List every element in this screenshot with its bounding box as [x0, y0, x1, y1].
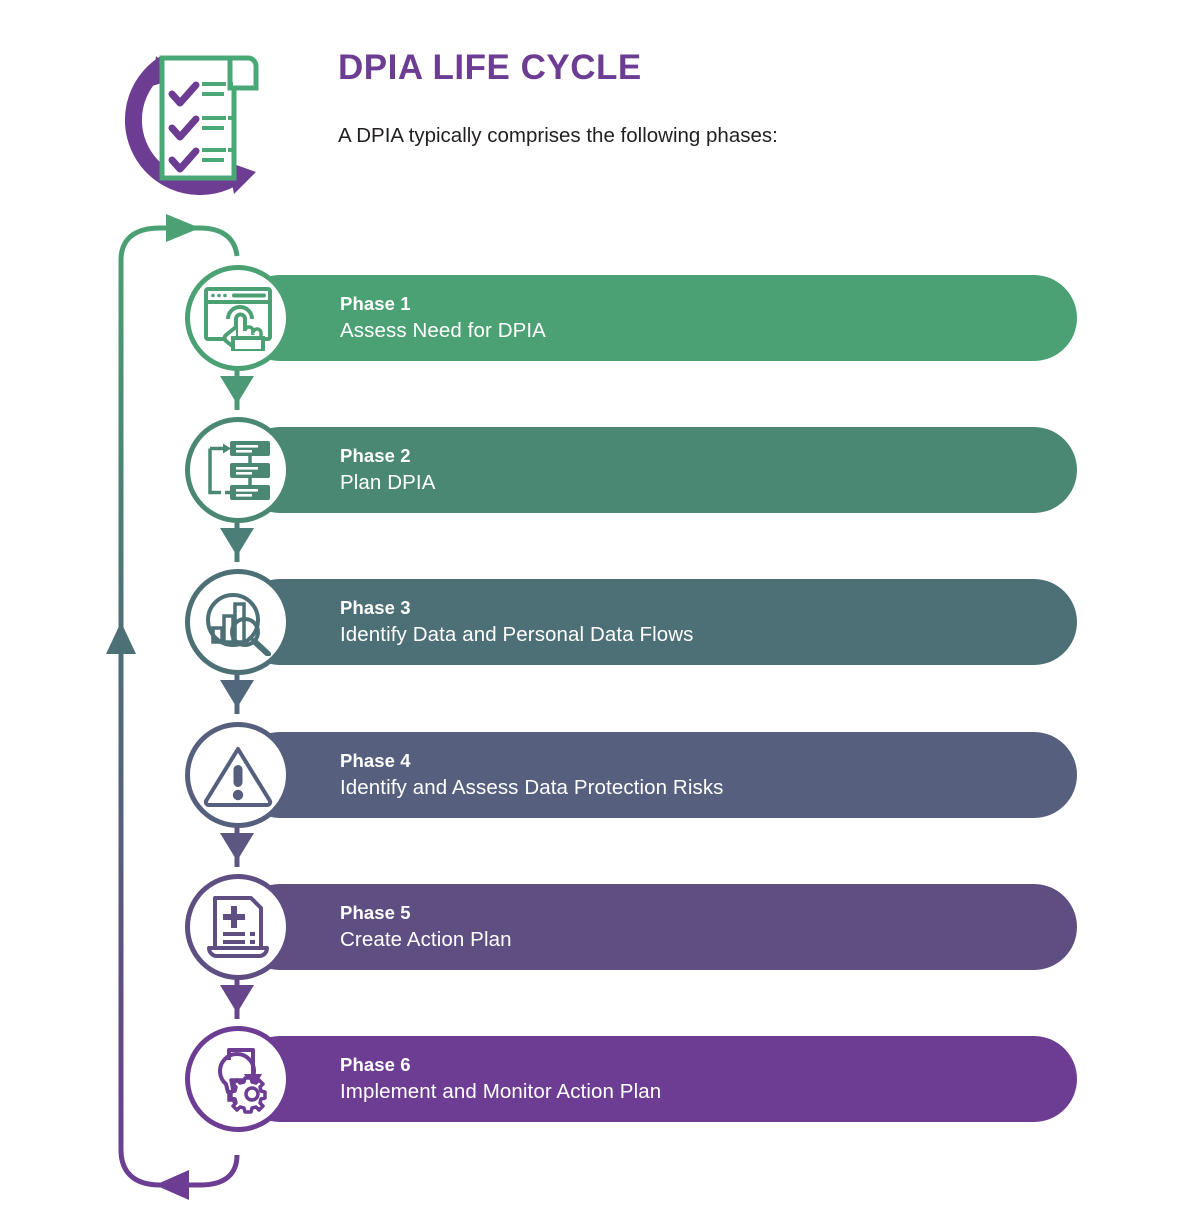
phase-icon-circle[interactable]: [185, 874, 291, 980]
phase-label-group: Phase 6 Implement and Monitor Action Pla…: [340, 1052, 661, 1106]
loop-mid-arrowhead: [106, 622, 136, 654]
phase-row[interactable]: Phase 5 Create Action Plan: [185, 874, 1080, 980]
document-plus-icon: [205, 894, 271, 960]
phase-icon-circle[interactable]: [185, 417, 291, 523]
phase-label-group: Phase 1 Assess Need for DPIA: [340, 291, 546, 345]
loop-bottom-arrowhead: [155, 1170, 189, 1200]
phase-icon-circle[interactable]: [185, 569, 291, 675]
dpia-life-cycle-infographic: DPIA LIFE CYCLE A DPIA typically compris…: [0, 0, 1188, 1232]
lightbulb-gear-icon: [202, 1044, 274, 1114]
phase-row[interactable]: Phase 6 Implement and Monitor Action Pla…: [185, 1026, 1080, 1132]
phase-name: Phase 6: [340, 1052, 661, 1077]
phase-name: Phase 3: [340, 595, 694, 620]
phase-name: Phase 5: [340, 900, 512, 925]
phase-description: Assess Need for DPIA: [340, 316, 546, 345]
phase-description: Implement and Monitor Action Plan: [340, 1077, 661, 1106]
phase-icon-circle[interactable]: [185, 1026, 291, 1132]
phase-row[interactable]: Phase 1 Assess Need for DPIA: [185, 265, 1080, 371]
phase-flow: Phase 1 Assess Need for DPIA: [0, 210, 1188, 1200]
phase-label-group: Phase 2 Plan DPIA: [340, 443, 435, 497]
phase-name: Phase 4: [340, 748, 724, 773]
loop-top-arrowhead: [166, 214, 200, 242]
phase-description: Identify Data and Personal Data Flows: [340, 620, 694, 649]
page-subtitle: A DPIA typically comprises the following…: [338, 122, 1038, 150]
phase-description: Plan DPIA: [340, 468, 435, 497]
header-text-block: DPIA LIFE CYCLE A DPIA typically compris…: [338, 46, 1038, 150]
chart-magnifier-icon: [203, 588, 273, 656]
phase-label-group: Phase 3 Identify Data and Personal Data …: [340, 595, 694, 649]
click-screen-icon: [202, 285, 274, 351]
page-title: DPIA LIFE CYCLE: [338, 46, 1038, 90]
phase-name: Phase 1: [340, 291, 546, 316]
phase-row[interactable]: Phase 4 Identify and Assess Data Protect…: [185, 722, 1080, 828]
checklist-cycle-icon: [124, 38, 276, 202]
phase-label-group: Phase 4 Identify and Assess Data Protect…: [340, 748, 724, 802]
phase-row[interactable]: Phase 2 Plan DPIA: [185, 417, 1080, 523]
phase-row[interactable]: Phase 3 Identify Data and Personal Data …: [185, 569, 1080, 675]
phase-label-group: Phase 5 Create Action Plan: [340, 900, 512, 954]
phase-description: Create Action Plan: [340, 925, 512, 954]
flowchart-plan-icon: [204, 439, 272, 501]
phase-icon-circle[interactable]: [185, 265, 291, 371]
warning-triangle-icon: [202, 743, 274, 807]
phase-description: Identify and Assess Data Protection Risk…: [340, 773, 724, 802]
phase-name: Phase 2: [340, 443, 435, 468]
phase-icon-circle[interactable]: [185, 722, 291, 828]
